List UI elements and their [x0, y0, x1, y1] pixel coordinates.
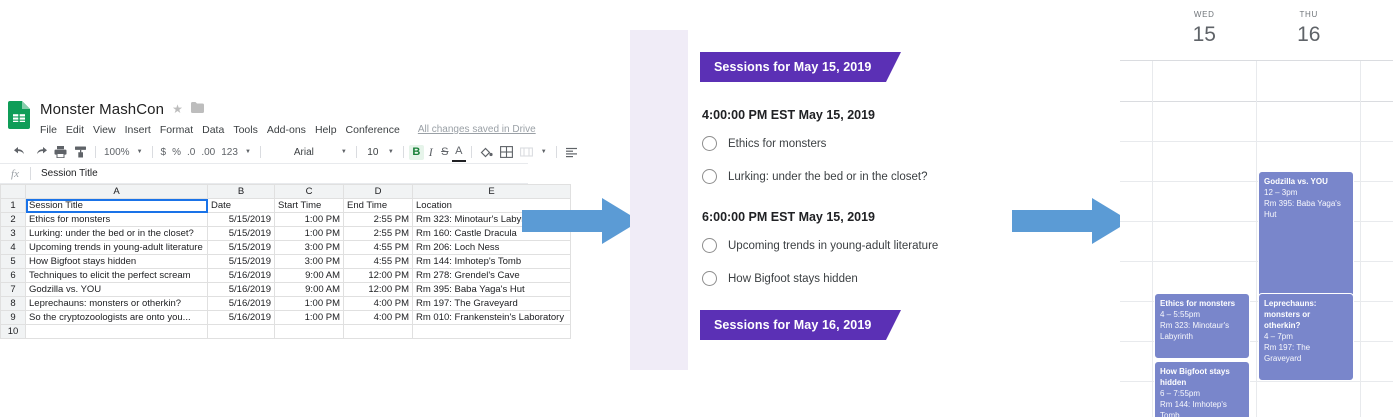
font-size-chevron-down-icon[interactable]: ▼ [384, 143, 398, 161]
bold-button[interactable]: B [409, 145, 424, 160]
radio-option[interactable]: Upcoming trends in young-adult literatur… [702, 238, 922, 253]
row-header[interactable]: 3 [1, 227, 26, 241]
option-label: Lurking: under the bed or in the closet? [728, 171, 927, 183]
cell-empty[interactable] [413, 325, 571, 339]
cell-start[interactable]: 1:00 PM [275, 311, 344, 325]
cell-a1[interactable]: Session Title [26, 199, 208, 213]
horizontal-align-icon[interactable] [562, 143, 582, 161]
day-of-week-label: THU [1257, 10, 1362, 19]
time-slot-2: 6:00:00 PM EST May 15, 2019 Upcoming tre… [688, 210, 922, 286]
table-row: 6 Techniques to elicit the perfect screa… [1, 269, 571, 283]
cell-date[interactable]: 5/15/2019 [208, 241, 275, 255]
row-header-1[interactable]: 1 [1, 199, 26, 213]
google-sheets-logo-icon [8, 101, 30, 129]
cell-location[interactable]: Rm 278: Grendel's Cave [413, 269, 571, 283]
menu-file[interactable]: File [40, 124, 57, 136]
radio-button-icon[interactable] [702, 271, 717, 286]
cell-start[interactable]: 3:00 PM [275, 255, 344, 269]
merge-chevron-down-icon[interactable]: ▼ [537, 143, 551, 161]
sheets-toolbar: 100% ▼ $ % .0 .00 123 ▼ Arial ▼ 10 ▼ B I… [0, 141, 528, 163]
day-number-label: 16 [1257, 23, 1362, 47]
row-header[interactable]: 9 [1, 311, 26, 325]
cell-date[interactable]: 5/16/2019 [208, 283, 275, 297]
calendar-event[interactable]: How Bigfoot stays hidden 6 – 7:55pm Rm 1… [1154, 361, 1250, 417]
table-row: 8 Leprechauns: monsters or otherkin? 5/1… [1, 297, 571, 311]
column-header-row: A B C D E [1, 185, 571, 199]
row-header[interactable]: 2 [1, 213, 26, 227]
table-row: 3 Lurking: under the bed or in the close… [1, 227, 571, 241]
event-title: Ethics for monsters [1160, 298, 1244, 309]
folder-icon[interactable] [191, 100, 204, 118]
menu-conference[interactable]: Conference [346, 124, 400, 136]
flow-arrow-sheets-to-form [522, 198, 640, 244]
cell-start[interactable]: 1:00 PM [275, 227, 344, 241]
italic-button[interactable]: I [424, 143, 438, 161]
cell-title[interactable]: Upcoming trends in young-adult literatur… [26, 241, 208, 255]
cell-start[interactable]: 9:00 AM [275, 283, 344, 297]
slot-time-label: 6:00:00 PM EST May 15, 2019 [702, 210, 922, 224]
cell-location[interactable]: Rm 395: Baba Yaga's Hut [413, 283, 571, 297]
cell-end[interactable]: 4:00 PM [344, 297, 413, 311]
event-time: 6 – 7:55pm [1160, 388, 1244, 399]
star-icon[interactable]: ★ [172, 103, 183, 115]
spreadsheet-grid: A B C D E 1 Session Title Date Start Tim… [0, 184, 571, 339]
cell-title[interactable]: Godzilla vs. YOU [26, 283, 208, 297]
cell-start[interactable]: 1:00 PM [275, 213, 344, 227]
table-row: 10 [1, 325, 571, 339]
cell-title[interactable]: Leprechauns: monsters or otherkin? [26, 297, 208, 311]
cell-end[interactable]: 12:00 PM [344, 283, 413, 297]
cell-end[interactable]: 12:00 PM [344, 269, 413, 283]
menu-format[interactable]: Format [160, 124, 193, 136]
percent-format-button[interactable]: % [169, 143, 184, 161]
cell-date[interactable]: 5/15/2019 [208, 227, 275, 241]
radio-option[interactable]: How Bigfoot stays hidden [702, 271, 922, 286]
slot-time-label: 4:00:00 PM EST May 15, 2019 [702, 108, 922, 122]
cell-empty[interactable] [26, 325, 208, 339]
menu-insert[interactable]: Insert [125, 124, 151, 136]
flow-arrow-form-to-calendar [1012, 198, 1130, 244]
menu-data[interactable]: Data [202, 124, 224, 136]
row-header[interactable]: 4 [1, 241, 26, 255]
cell-d1[interactable]: End Time [344, 199, 413, 213]
day-header-thu[interactable]: THU 16 [1257, 0, 1362, 60]
cell-date[interactable]: 5/15/2019 [208, 213, 275, 227]
calendar-grid: Godzilla vs. YOU 12 – 3pm Rm 395: Baba Y… [1120, 60, 1393, 417]
table-row: 9 So the cryptozoologists are onto you..… [1, 311, 571, 325]
cell-location[interactable]: Rm 010: Frankenstein's Laboratory [413, 311, 571, 325]
radio-button-icon[interactable] [702, 136, 717, 151]
decrease-decimal-button[interactable]: .0 [184, 143, 198, 161]
cell-date[interactable]: 5/15/2019 [208, 255, 275, 269]
text-color-button[interactable]: A [452, 142, 466, 162]
cell-location[interactable]: Rm 197: The Graveyard [413, 297, 571, 311]
banner-label: Sessions for May 15, 2019 [714, 60, 871, 74]
menu-edit[interactable]: Edit [66, 124, 84, 136]
menu-help[interactable]: Help [315, 124, 337, 136]
cell-date[interactable]: 5/16/2019 [208, 311, 275, 325]
menu-addons[interactable]: Add-ons [267, 124, 306, 136]
number-format-chevron-down-icon[interactable]: ▼ [241, 143, 255, 161]
cell-title[interactable]: Lurking: under the bed or in the closet? [26, 227, 208, 241]
calendar-event[interactable]: Ethics for monsters 4 – 5:55pm Rm 323: M… [1154, 293, 1250, 359]
table-row: 5 How Bigfoot stays hidden 5/15/2019 3:0… [1, 255, 571, 269]
sheets-titlebar: Monster MashCon ★ File Edit View Insert … [0, 95, 528, 141]
radio-option[interactable]: Ethics for monsters [702, 136, 922, 151]
cell-b1[interactable]: Date [208, 199, 275, 213]
cell-empty[interactable] [208, 325, 275, 339]
event-location: Rm 144: Imhotep's Tomb [1160, 399, 1244, 417]
option-label: How Bigfoot stays hidden [728, 273, 858, 285]
column-header-a[interactable]: A [26, 185, 208, 199]
formula-bar: fx Session Title [0, 163, 528, 184]
paint-format-icon[interactable] [70, 143, 90, 161]
table-row: 7 Godzilla vs. YOU 5/16/2019 9:00 AM 12:… [1, 283, 571, 297]
cell-start[interactable]: 3:00 PM [275, 241, 344, 255]
radio-button-icon[interactable] [702, 169, 717, 184]
font-size-select[interactable]: 10 [362, 143, 384, 161]
cell-end[interactable]: 2:55 PM [344, 213, 413, 227]
row-header[interactable]: 5 [1, 255, 26, 269]
option-label: Ethics for monsters [728, 138, 826, 150]
menu-view[interactable]: View [93, 124, 116, 136]
event-title: How Bigfoot stays hidden [1160, 366, 1244, 388]
google-form-panel: Sessions for May 15, 2019 4:00:00 PM EST… [630, 30, 922, 370]
sheets-menubar: File Edit View Insert Format Data Tools … [40, 122, 536, 137]
calendar-day-headers: WED 15 THU 16 [1120, 0, 1393, 60]
day-number-label: 15 [1152, 23, 1257, 47]
zoom-chevron-down-icon[interactable]: ▼ [133, 143, 147, 161]
table-row: 4 Upcoming trends in young-adult literat… [1, 241, 571, 255]
cell-title[interactable]: So the cryptozoologists are onto you... [26, 311, 208, 325]
right-spacer [1361, 0, 1393, 60]
event-title: Leprechauns: monsters or otherkin? [1264, 298, 1348, 331]
section-banner-may-16: Sessions for May 16, 2019 [700, 310, 886, 340]
fill-color-icon[interactable] [477, 143, 497, 161]
option-label: Upcoming trends in young-adult literatur… [728, 240, 938, 252]
table-row: 2 Ethics for monsters 5/15/2019 1:00 PM … [1, 213, 571, 227]
cell-empty[interactable] [344, 325, 413, 339]
font-chevron-down-icon[interactable]: ▼ [337, 143, 351, 161]
select-all-corner[interactable] [1, 185, 26, 199]
font-family-select[interactable]: Arial [266, 143, 337, 161]
row-header[interactable]: 8 [1, 297, 26, 311]
cell-c1[interactable]: Start Time [275, 199, 344, 213]
event-location: Rm 323: Minotaur's Labyrinth [1160, 320, 1244, 342]
row-header[interactable]: 7 [1, 283, 26, 297]
cell-date[interactable]: 5/16/2019 [208, 297, 275, 311]
cell-end[interactable]: 4:00 PM [344, 311, 413, 325]
event-location: Rm 197: The Graveyard [1264, 342, 1348, 364]
save-status-link[interactable]: All changes saved in Drive [418, 124, 536, 135]
calendar-event[interactable]: Godzilla vs. YOU 12 – 3pm Rm 395: Baba Y… [1258, 171, 1354, 301]
banner-label: Sessions for May 16, 2019 [714, 318, 871, 332]
menu-tools[interactable]: Tools [233, 124, 258, 136]
row-header[interactable]: 10 [1, 325, 26, 339]
event-location: Rm 395: Baba Yaga's Hut [1264, 198, 1348, 220]
number-format-button[interactable]: 123 [218, 143, 241, 161]
table-row: 1 Session Title Date Start Time End Time… [1, 199, 571, 213]
radio-button-icon[interactable] [702, 238, 717, 253]
cell-end[interactable]: 4:55 PM [344, 255, 413, 269]
cell-title[interactable]: Ethics for monsters [26, 213, 208, 227]
cell-empty[interactable] [275, 325, 344, 339]
cell-title[interactable]: How Bigfoot stays hidden [26, 255, 208, 269]
borders-icon[interactable] [497, 143, 517, 161]
cell-start[interactable]: 9:00 AM [275, 269, 344, 283]
merge-cells-icon[interactable] [517, 143, 537, 161]
row-header[interactable]: 6 [1, 269, 26, 283]
cell-date[interactable]: 5/16/2019 [208, 269, 275, 283]
time-gutter-spacer [1120, 0, 1152, 60]
column-header-e[interactable]: E [413, 185, 571, 199]
document-title[interactable]: Monster MashCon [40, 101, 164, 118]
function-icon[interactable]: fx [0, 168, 30, 180]
strikethrough-button[interactable]: S [438, 143, 452, 161]
print-icon[interactable] [50, 143, 70, 161]
event-title: Godzilla vs. YOU [1264, 176, 1348, 187]
currency-format-button[interactable]: $ [158, 143, 170, 161]
zoom-level[interactable]: 100% [101, 143, 133, 161]
time-slot-1: 4:00:00 PM EST May 15, 2019 Ethics for m… [688, 108, 922, 184]
radio-option[interactable]: Lurking: under the bed or in the closet? [702, 169, 922, 184]
redo-icon[interactable] [30, 143, 50, 161]
column-header-c[interactable]: C [275, 185, 344, 199]
cell-start[interactable]: 1:00 PM [275, 297, 344, 311]
event-time: 12 – 3pm [1264, 187, 1348, 198]
cell-title[interactable]: Techniques to elicit the perfect scream [26, 269, 208, 283]
cell-end[interactable]: 4:55 PM [344, 241, 413, 255]
increase-decimal-button[interactable]: .00 [198, 143, 218, 161]
event-time: 4 – 7pm [1264, 331, 1348, 342]
day-of-week-label: WED [1152, 10, 1257, 19]
column-header-b[interactable]: B [208, 185, 275, 199]
section-banner-may-15: Sessions for May 15, 2019 [700, 52, 886, 82]
cell-end[interactable]: 2:55 PM [344, 227, 413, 241]
event-time: 4 – 5:55pm [1160, 309, 1244, 320]
undo-icon[interactable] [10, 143, 30, 161]
calendar-event[interactable]: Leprechauns: monsters or otherkin? 4 – 7… [1258, 293, 1354, 381]
formula-input[interactable]: Session Title [31, 168, 98, 179]
day-header-wed[interactable]: WED 15 [1152, 0, 1257, 60]
google-sheets-panel: Monster MashCon ★ File Edit View Insert … [0, 95, 528, 315]
cell-location[interactable]: Rm 144: Imhotep's Tomb [413, 255, 571, 269]
google-calendar-panel: WED 15 THU 16 Godzilla vs. YOU 12 – 3pm … [1120, 0, 1393, 417]
column-header-d[interactable]: D [344, 185, 413, 199]
form-card: Sessions for May 15, 2019 4:00:00 PM EST… [688, 30, 922, 370]
